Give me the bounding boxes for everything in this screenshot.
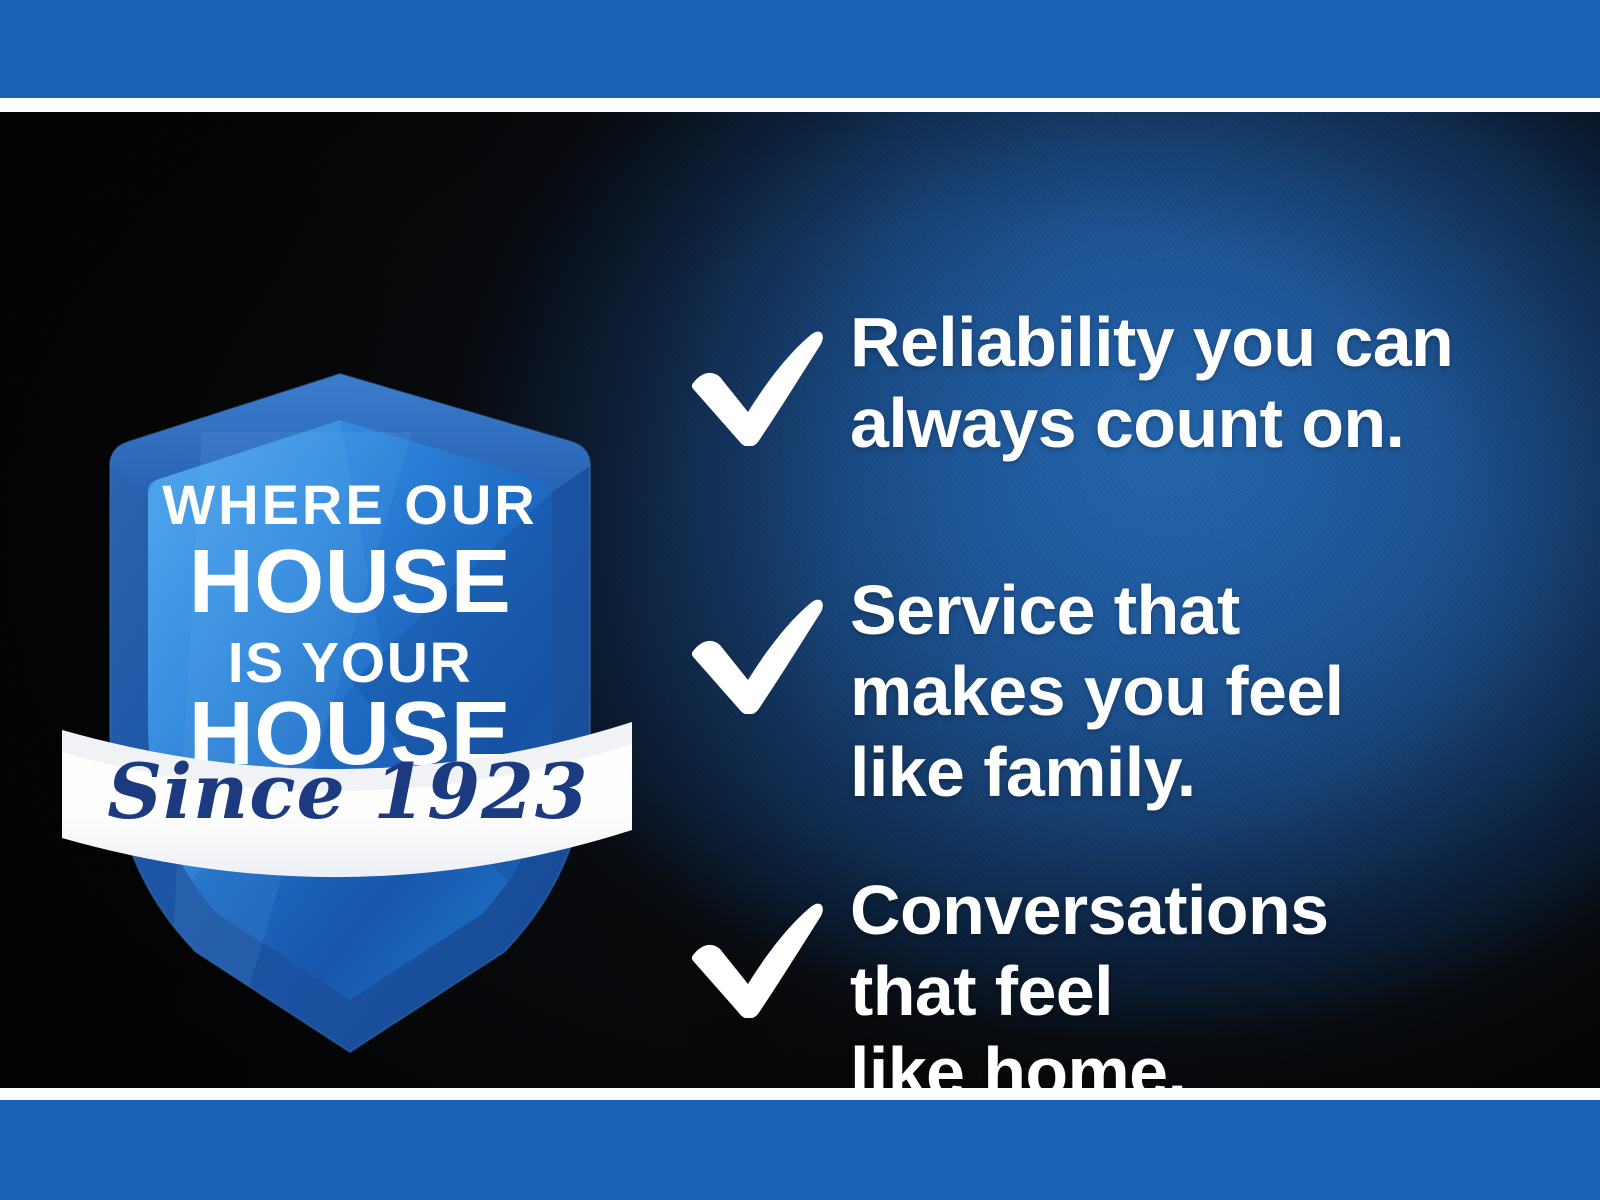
top-brand-bar: [0, 0, 1600, 98]
check-icon: [676, 900, 826, 1018]
since-banner-text: Since 1923: [107, 747, 589, 836]
logo-line-1: WHERE OUR: [162, 473, 537, 536]
shield-logo: WHERE OUR HOUSE IS YOUR HOUSE Since 1923: [52, 252, 642, 1072]
check-icon: [676, 328, 826, 446]
benefit-item-1: Reliability you can always count on.: [676, 302, 1536, 570]
benefit-text-1: Reliability you can always count on.: [850, 302, 1536, 464]
benefit-item-3: Conversations that feel like home.: [676, 870, 1536, 1088]
check-icon: [676, 596, 826, 714]
bottom-brand-bar: [0, 1100, 1600, 1200]
benefit-item-2: Service that makes you feel like family.: [676, 570, 1536, 870]
logo-line-2: HOUSE: [189, 532, 512, 632]
benefit-text-3: Conversations that feel like home.: [850, 870, 1536, 1088]
benefit-text-2: Service that makes you feel like family.: [850, 570, 1536, 814]
promo-poster: WHERE OUR HOUSE IS YOUR HOUSE Since 1923: [0, 0, 1600, 1200]
poster-canvas: WHERE OUR HOUSE IS YOUR HOUSE Since 1923: [0, 112, 1600, 1088]
benefits-list: Reliability you can always count on. Ser…: [676, 302, 1536, 1088]
